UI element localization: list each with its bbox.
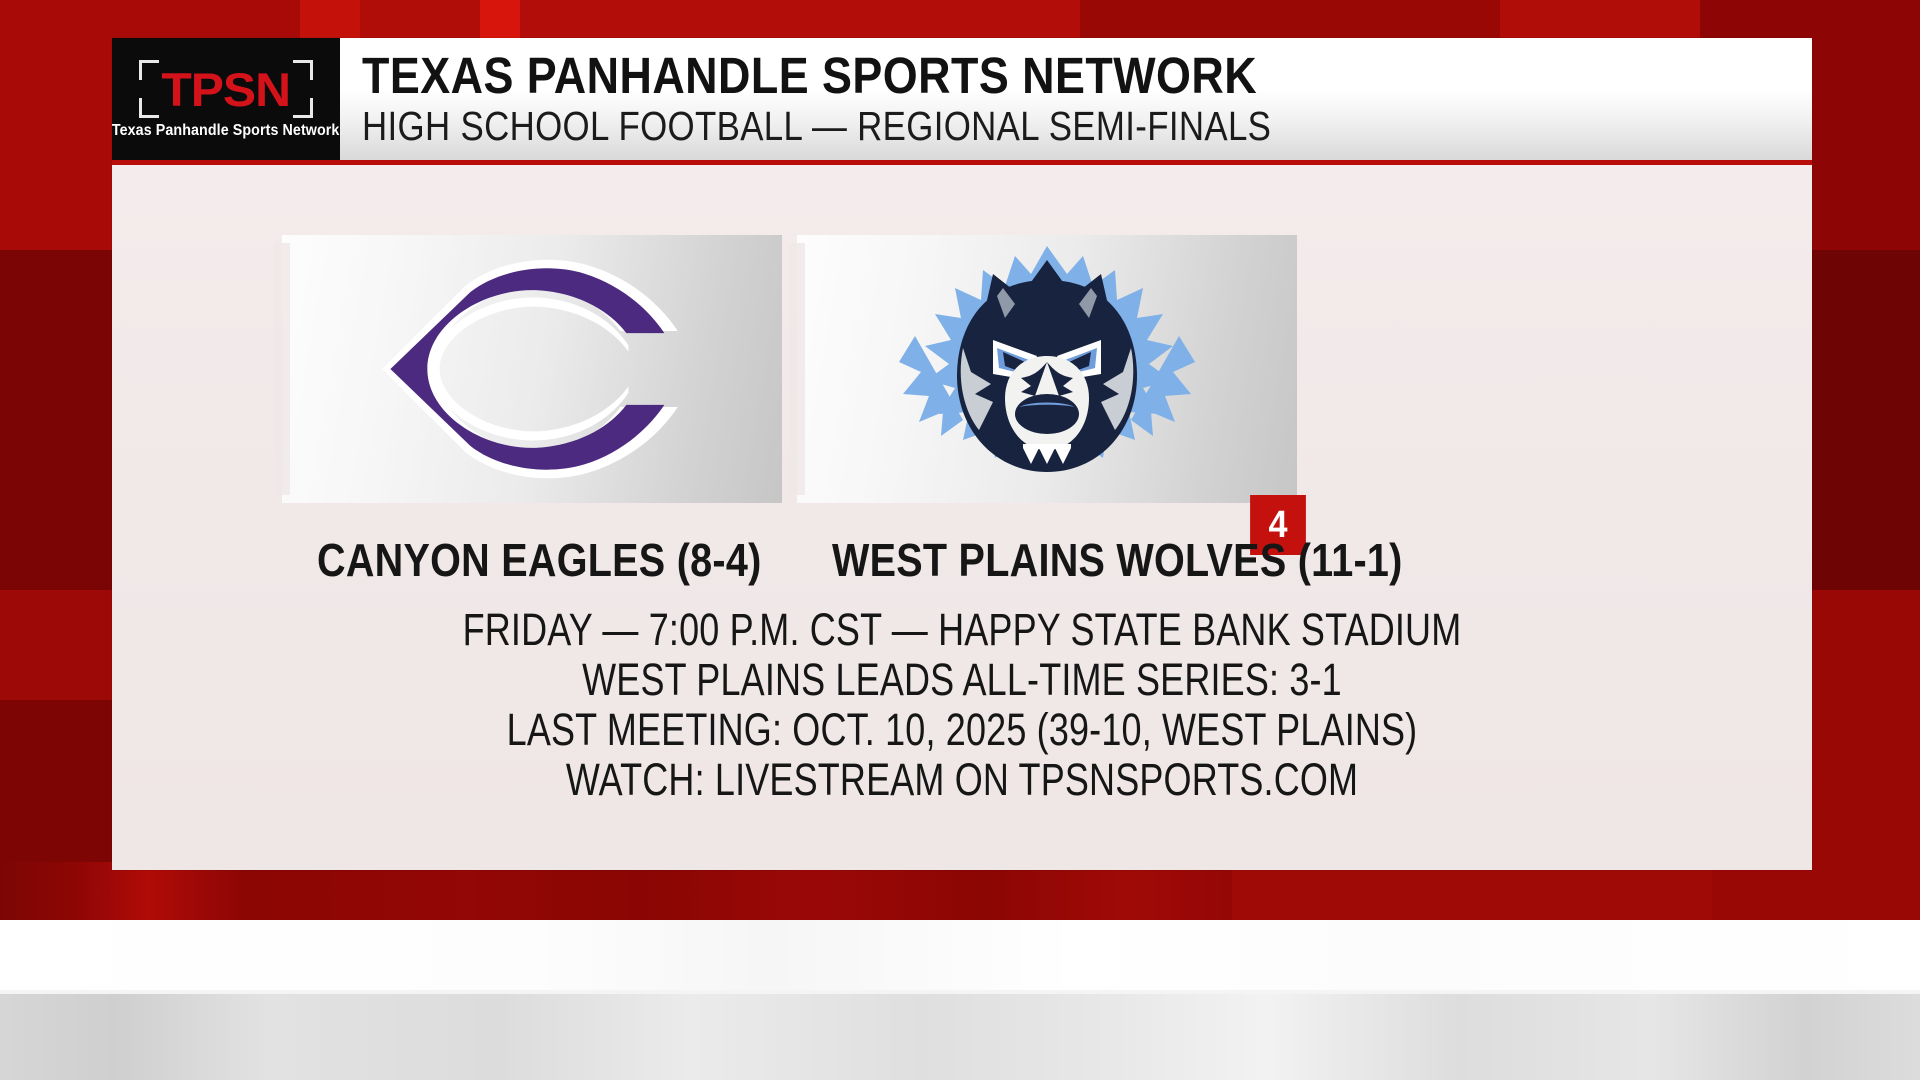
lower-grey-band xyxy=(0,994,1920,1080)
bracket-top-left-icon xyxy=(139,60,159,80)
tpsn-logo-mark: TPSN xyxy=(133,58,319,120)
away-team-logo-card xyxy=(797,235,1297,503)
bracket-bottom-right-icon xyxy=(293,98,313,118)
logo-wordmark: TPSN xyxy=(162,66,291,113)
home-team-logo-card xyxy=(282,235,782,503)
away-team-name: WEST PLAINS WOLVES (11-1) xyxy=(832,533,1262,587)
network-logo: TPSN Texas Panhandle Sports Network xyxy=(112,38,340,160)
info-line-watch: WATCH: LIVESTREAM ON TPSNSPORTS.COM xyxy=(282,755,1642,805)
bracket-bottom-left-icon xyxy=(139,98,159,118)
game-info-block: FRIDAY — 7:00 P.M. CST — HAPPY STATE BAN… xyxy=(112,605,1812,805)
logo-subtitle: Texas Panhandle Sports Network xyxy=(112,122,340,140)
card-header: TPSN Texas Panhandle Sports Network TEXA… xyxy=(112,38,1812,165)
west-plains-wolves-icon xyxy=(897,244,1197,494)
team-name-row: CANYON EAGLES (8-4) WEST PLAINS WOLVES (… xyxy=(112,533,1812,603)
canyon-eagles-c-icon xyxy=(367,251,697,487)
broadcast-graphic: TPSN Texas Panhandle Sports Network TEXA… xyxy=(0,0,1920,1080)
header-text-block: TEXAS PANHANDLE SPORTS NETWORK HIGH SCHO… xyxy=(340,38,1812,160)
background-lower-slab xyxy=(0,862,1232,924)
home-team-name: CANYON EAGLES (8-4) xyxy=(317,533,747,587)
bracket-top-right-icon xyxy=(293,60,313,80)
header-subtitle: HIGH SCHOOL FOOTBALL — REGIONAL SEMI-FIN… xyxy=(362,106,1595,146)
info-line-series-record: WEST PLAINS LEADS ALL-TIME SERIES: 3-1 xyxy=(282,655,1642,705)
matchup-card: TPSN Texas Panhandle Sports Network TEXA… xyxy=(112,38,1812,870)
network-title: TEXAS PANHANDLE SPORTS NETWORK xyxy=(362,51,1638,101)
info-line-last-meeting: LAST MEETING: OCT. 10, 2025 (39-10, WEST… xyxy=(282,705,1642,755)
lower-white-band xyxy=(0,920,1920,1000)
card-body: 4 CANYON EAGLES (8-4) WEST PLAINS WOLVES… xyxy=(112,165,1812,870)
matchup-logos: 4 xyxy=(112,165,1812,525)
info-line-datetime-venue: FRIDAY — 7:00 P.M. CST — HAPPY STATE BAN… xyxy=(282,605,1642,655)
